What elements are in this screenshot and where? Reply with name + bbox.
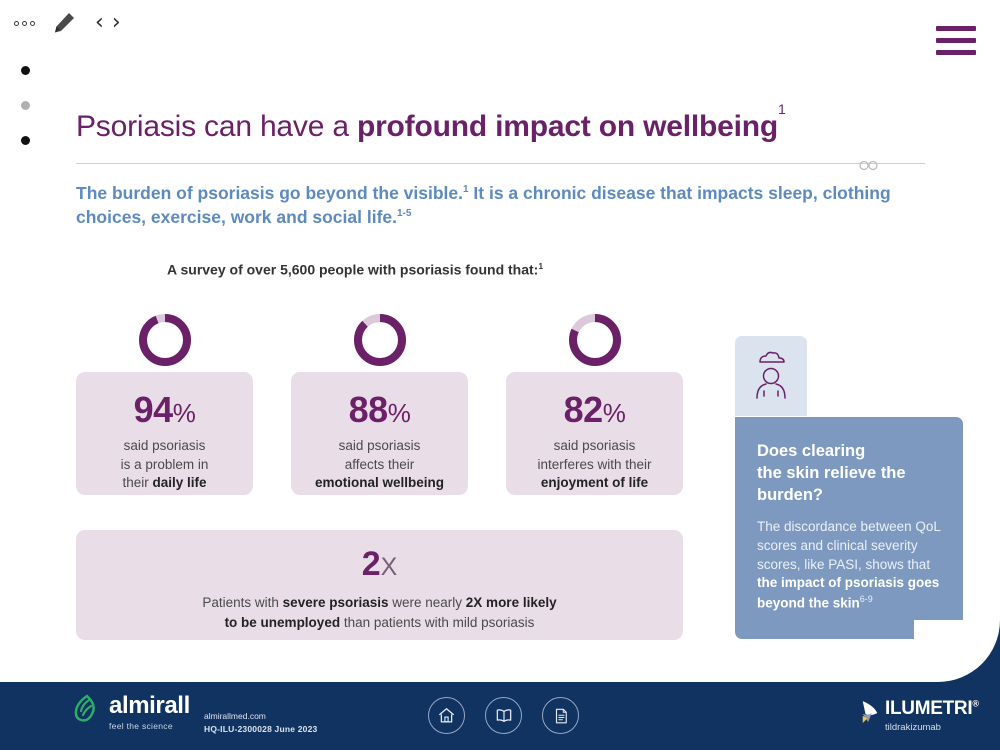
stat-value: 94% bbox=[134, 392, 196, 428]
three-dots-icon[interactable] bbox=[14, 21, 35, 26]
stat-number: 88 bbox=[349, 389, 388, 430]
heading-block: Psoriasis can have a profound impact on … bbox=[76, 110, 926, 229]
stat-desc-line-2: affects their bbox=[345, 457, 415, 472]
top-toolbar: ‹ › bbox=[14, 10, 121, 36]
unemp-line1-c: were nearly bbox=[389, 595, 466, 610]
hamburger-bar bbox=[936, 26, 976, 31]
page-title-light: Psoriasis can have a bbox=[76, 110, 357, 143]
legal-info: almirallmed.com HQ-ILU-2300028 June 2023 bbox=[204, 710, 317, 736]
stat-description: said psoriasis affects their emotional w… bbox=[307, 437, 452, 493]
stat-desc-line-1: said psoriasis bbox=[124, 438, 206, 453]
divider-line bbox=[76, 163, 925, 164]
subheading-sup-2: 1-5 bbox=[397, 208, 411, 219]
unemp-line2-a: to be unemployed bbox=[225, 615, 341, 630]
stat-desc-line-1: said psoriasis bbox=[554, 438, 636, 453]
panel-body-plain: The discordance between QoL scores and c… bbox=[757, 519, 940, 572]
hamburger-bar bbox=[936, 50, 976, 55]
legal-code: HQ-ILU-2300028 June 2023 bbox=[204, 723, 317, 736]
stat-desc-line-2: interferes with their bbox=[537, 457, 651, 472]
stat-unit: % bbox=[173, 398, 196, 428]
stat-card: 82% said psoriasis interferes with their… bbox=[506, 372, 683, 495]
stat-card: 94% said psoriasis is a problem in their… bbox=[76, 372, 253, 495]
stat-number-2x: 2 bbox=[362, 545, 381, 583]
stat-unit: % bbox=[603, 398, 626, 428]
panel-body-sup: 6-9 bbox=[860, 594, 873, 604]
rail-dot[interactable] bbox=[21, 136, 30, 145]
panel-heading-line-2: the skin relieve the bbox=[757, 464, 906, 482]
page-title-superscript: 1 bbox=[778, 101, 786, 117]
footer-nav bbox=[428, 697, 579, 734]
stat-description: said psoriasis is a problem in their dai… bbox=[113, 437, 217, 493]
stat-desc-line-2: is a problem in bbox=[121, 457, 209, 472]
almirall-wordmark: almirall bbox=[109, 692, 190, 719]
next-slide-button[interactable]: › bbox=[112, 12, 121, 34]
stat-number: 82 bbox=[564, 389, 603, 430]
subheading-part-1: The burden of psoriasis go beyond the vi… bbox=[76, 183, 463, 203]
ilumetri-text-block: ILUMETRI® tildrakizumab bbox=[885, 699, 979, 733]
almirall-logo: almirall feel the science bbox=[74, 694, 190, 731]
survey-caption: A survey of over 5,600 people with psori… bbox=[167, 261, 543, 278]
stat-description: said psoriasis interferes with their enj… bbox=[529, 437, 659, 493]
hamburger-menu-icon[interactable] bbox=[936, 26, 976, 55]
heading-divider bbox=[76, 158, 925, 168]
ilumetri-generic: tildrakizumab bbox=[885, 722, 979, 733]
panel-body: The discordance between QoL scores and c… bbox=[757, 518, 941, 614]
home-icon[interactable] bbox=[428, 697, 465, 734]
stat-desc-line-3-bold: daily life bbox=[152, 475, 206, 490]
stat-value: 82% bbox=[564, 392, 626, 428]
survey-caption-sup: 1 bbox=[538, 261, 543, 271]
footer-corner-notch bbox=[914, 620, 1000, 682]
rail-dot[interactable] bbox=[21, 101, 30, 110]
slide-root: ‹ › Psoriasis can have a profound impact… bbox=[0, 0, 1000, 750]
panel-heading-line-3: burden? bbox=[757, 486, 823, 504]
unemp-line1-a: Patients with bbox=[202, 595, 282, 610]
stat-value: 88% bbox=[349, 392, 411, 428]
stat-desc-line-3-bold: emotional wellbeing bbox=[315, 475, 444, 490]
slide-rail-dots bbox=[21, 66, 30, 145]
stat-desc-line-1: said psoriasis bbox=[339, 438, 421, 453]
page-title-bold: profound impact on wellbeing bbox=[357, 110, 778, 143]
rail-dot[interactable] bbox=[21, 66, 30, 75]
unemployment-description: Patients with severe psoriasis were near… bbox=[202, 593, 556, 632]
page-title: Psoriasis can have a profound impact on … bbox=[76, 110, 926, 144]
document-icon[interactable] bbox=[542, 697, 579, 734]
hamburger-bar bbox=[936, 38, 976, 43]
legal-website: almirallmed.com bbox=[204, 710, 317, 723]
ilumetri-name-text: ILUMETRI bbox=[885, 698, 972, 719]
panel-icon-container bbox=[735, 336, 807, 416]
stat-desc-line-3-bold: enjoyment of life bbox=[541, 475, 648, 490]
highlighter-icon[interactable] bbox=[49, 10, 77, 36]
unemployment-stat-card: 2X Patients with severe psoriasis were n… bbox=[76, 530, 683, 640]
panel-heading: Does clearing the skin relieve the burde… bbox=[757, 441, 941, 507]
almirall-wordmark-block: almirall feel the science bbox=[109, 694, 190, 731]
donut-chart-82 bbox=[567, 312, 623, 368]
panel-heading-line-1: Does clearing bbox=[757, 442, 865, 460]
unemp-line1-d: 2X more likely bbox=[466, 595, 557, 610]
person-with-cloud-icon bbox=[746, 348, 796, 405]
slide-nav-arrows: ‹ › bbox=[95, 12, 121, 34]
unemp-line1-b: severe psoriasis bbox=[283, 595, 389, 610]
panel-body-bold: the impact of psoriasis goes beyond the … bbox=[757, 575, 939, 610]
stat-unit: % bbox=[388, 398, 411, 428]
ilumetri-registered-icon: ® bbox=[972, 699, 978, 709]
book-icon[interactable] bbox=[485, 697, 522, 734]
almirall-tagline: feel the science bbox=[109, 721, 190, 731]
prev-slide-button[interactable]: ‹ bbox=[95, 12, 104, 34]
donut-chart-88 bbox=[352, 312, 408, 368]
ilumetri-name: ILUMETRI® bbox=[885, 698, 979, 719]
burden-info-panel: Does clearing the skin relieve the burde… bbox=[735, 417, 963, 639]
stat-unit-2x: X bbox=[381, 553, 398, 581]
knot-ornament-icon bbox=[856, 158, 882, 169]
almirall-leaf-icon bbox=[74, 694, 100, 729]
ilumetri-logo: ILUMETRI® tildrakizumab bbox=[860, 699, 979, 733]
subheading: The burden of psoriasis go beyond the vi… bbox=[76, 182, 926, 229]
survey-caption-text: A survey of over 5,600 people with psori… bbox=[167, 262, 538, 278]
stat-value-2x: 2X bbox=[362, 547, 398, 581]
stat-desc-line-3-plain: their bbox=[122, 475, 152, 490]
stat-card: 88% said psoriasis affects their emotion… bbox=[291, 372, 468, 495]
unemp-line2-b: than patients with mild psoriasis bbox=[340, 615, 534, 630]
ilumetri-mark-icon bbox=[860, 699, 880, 732]
donut-chart-94 bbox=[137, 312, 193, 368]
stat-number: 94 bbox=[134, 389, 173, 430]
